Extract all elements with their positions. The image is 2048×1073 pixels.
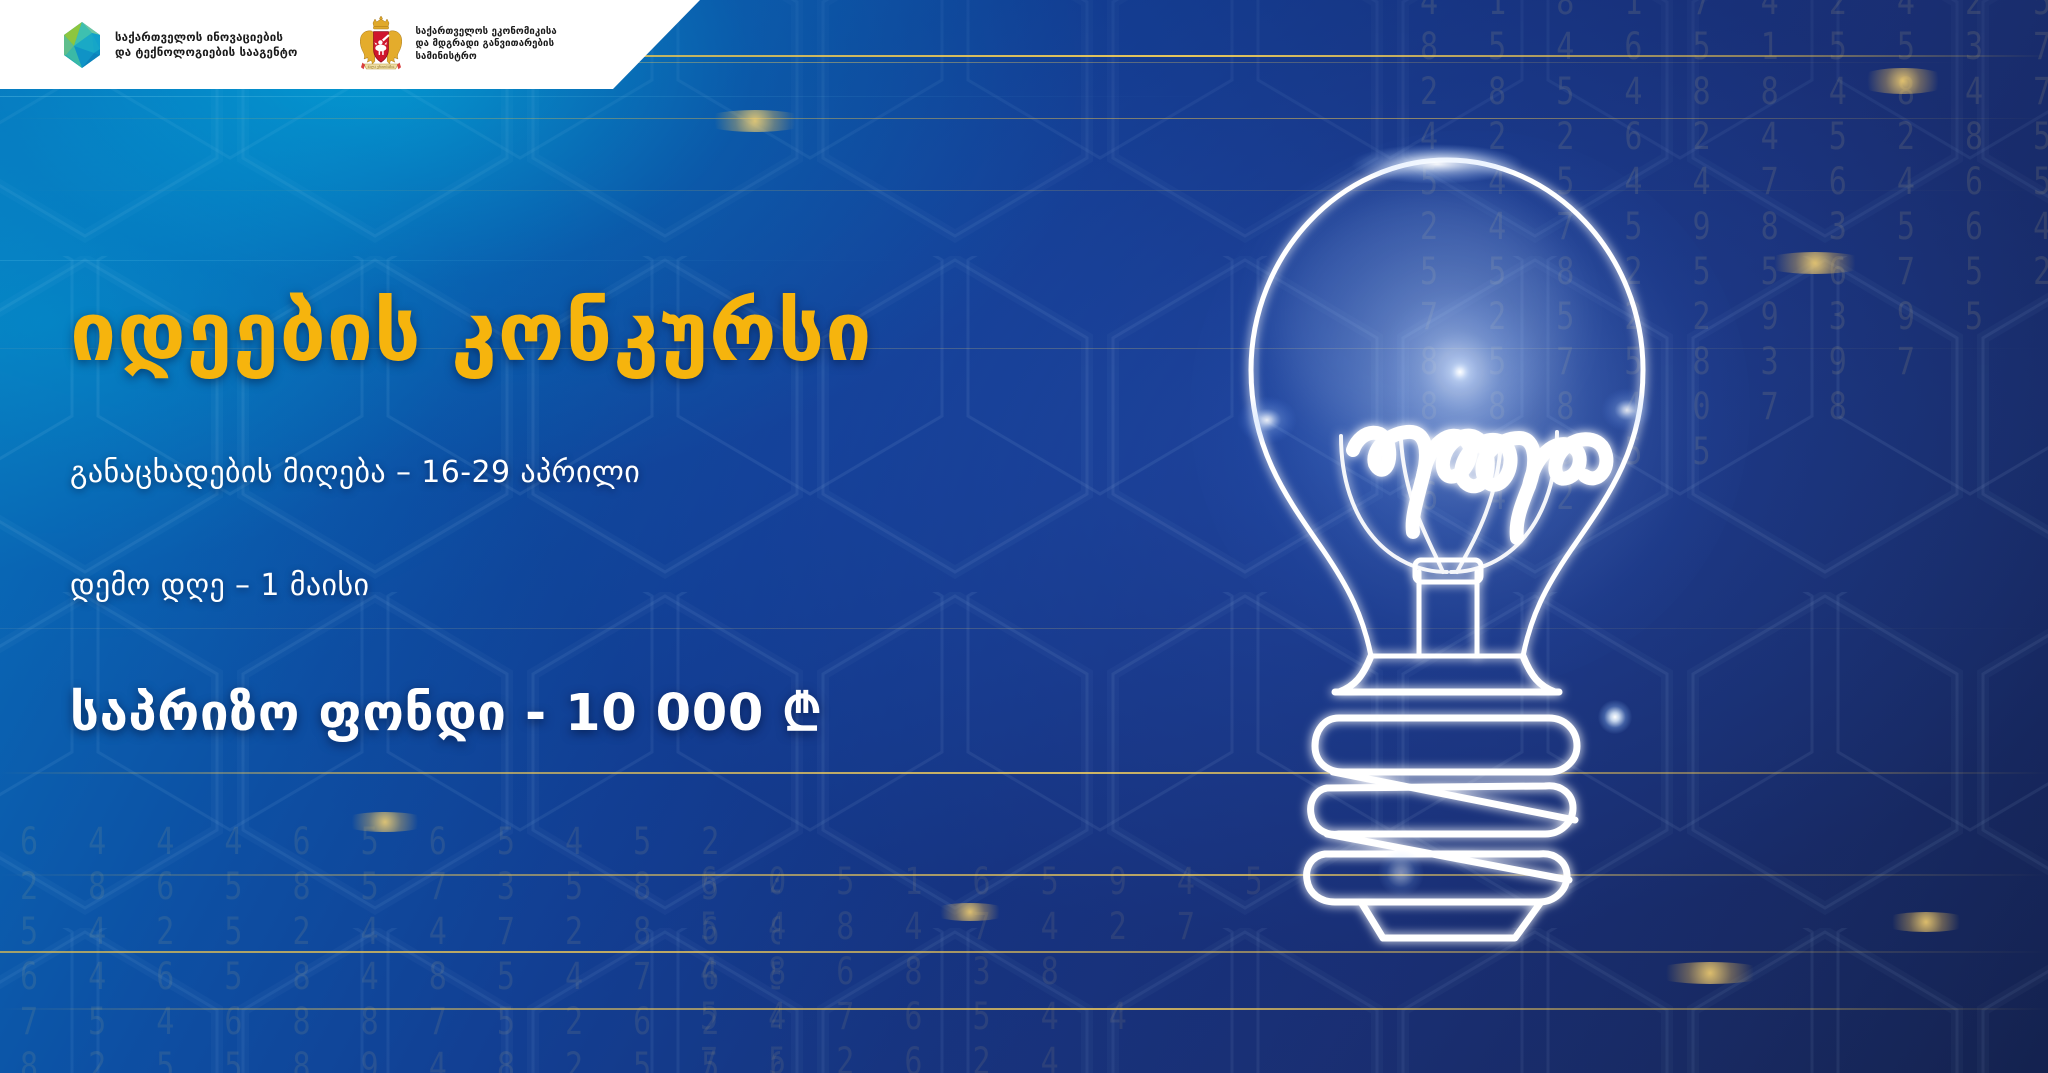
- demo-day-date: დემო დღე – 1 მაისი: [70, 568, 369, 603]
- government-brand[interactable]: ძალა ერთობაშია საქართველოს ეკონომიკისა დ…: [357, 14, 556, 76]
- bulb-screw-base: [1307, 656, 1577, 938]
- gita-brand[interactable]: საქართველოს ინოვაციების და ტექნოლოგიების…: [60, 21, 297, 69]
- gita-gem-logo-icon: [60, 21, 104, 69]
- header-band: საქართველოს ინოვაციების და ტექნოლოგიების…: [0, 0, 700, 89]
- poster-canvas: 4 1 8 1 7 4 2 4 2 5 4 8 5 4 6 5 1 5 5 3 …: [0, 0, 2048, 1073]
- bulb-neck: [1419, 572, 1477, 656]
- georgia-coat-of-arms-icon: ძალა ერთობაშია: [357, 14, 405, 76]
- digit-stream-middle: 6 0 5 1 6 5 9 4 5 5 5 4 8 4 7 4 2 7 4 8 …: [700, 860, 1260, 1073]
- ministry-name-text: საქართველოს ეკონომიკისა და მდგრადი განვი…: [415, 26, 556, 64]
- lightbulb-graphic: [1215, 120, 1735, 950]
- svg-text:ძალა ერთობაშია: ძალა ერთობაშია: [368, 65, 395, 69]
- application-dates: განაცხადების მიღება – 16-29 აპრილი: [70, 455, 640, 490]
- digit-stream-left: 6 4 4 4 6 5 6 5 4 5 2 2 8 6 5 8 5 7 3 5 …: [20, 820, 780, 1073]
- gita-name-text: საქართველოს ინოვაციების და ტექნოლოგიების…: [115, 30, 297, 59]
- prize-fund-text: საპრიზო ფონდი - 10 000 ₾: [70, 675, 822, 745]
- glint-spot-1: [700, 110, 810, 132]
- page-title: იდეების კონკურსი: [70, 285, 873, 380]
